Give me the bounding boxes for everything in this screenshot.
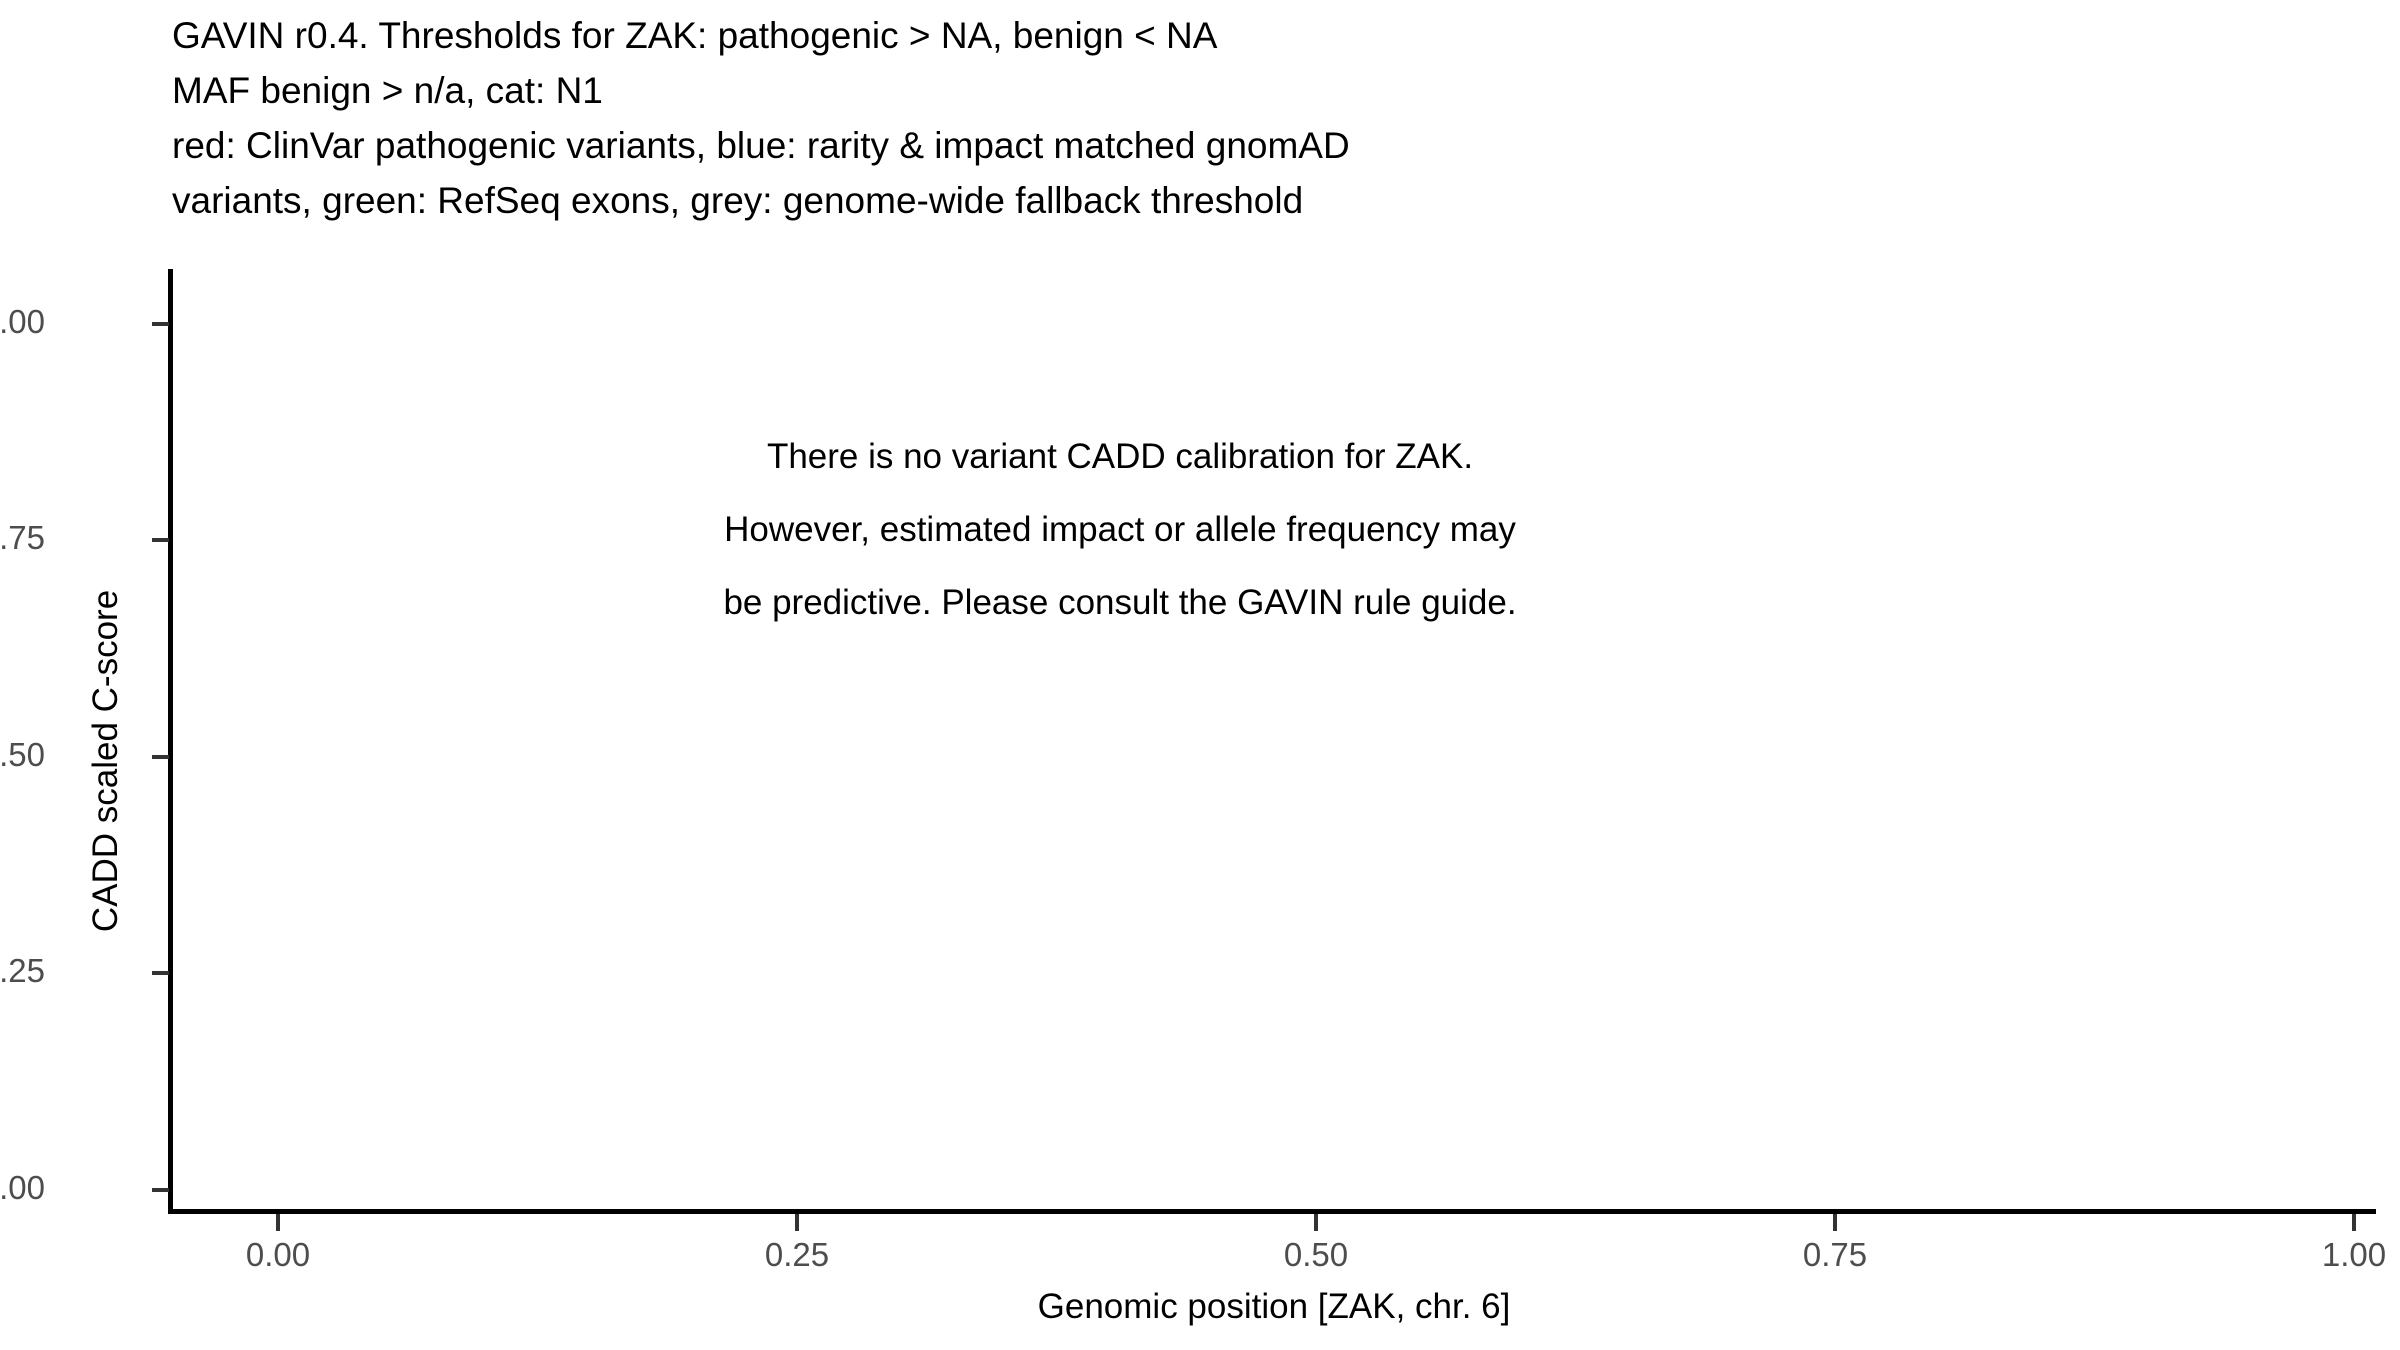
panel-annotation-line-2: However, estimated impact or allele freq… xyxy=(525,493,1715,566)
chart-title-line-1: GAVIN r0.4. Thresholds for ZAK: pathogen… xyxy=(172,8,2272,63)
y-tick-mark-3 xyxy=(152,538,169,542)
y-tick-label-3: 0.75 xyxy=(0,519,45,557)
x-axis-line xyxy=(168,1209,2376,1214)
x-tick-mark-0 xyxy=(276,1214,280,1231)
chart-title-line-2: MAF benign > n/a, cat: N1 xyxy=(172,63,2272,118)
chart-title-line-4: variants, green: RefSeq exons, grey: gen… xyxy=(172,173,2272,228)
chart-title: GAVIN r0.4. Thresholds for ZAK: pathogen… xyxy=(172,8,2272,228)
panel-annotation-line-3: be predictive. Please consult the GAVIN … xyxy=(525,566,1715,639)
y-tick-mark-0 xyxy=(152,1188,169,1192)
x-tick-mark-2 xyxy=(1314,1214,1318,1231)
y-tick-label-2: 0.50 xyxy=(0,736,45,774)
x-tick-label-2: 0.50 xyxy=(1216,1236,1416,1274)
y-axis-line xyxy=(168,269,173,1214)
x-tick-label-4: 1.00 xyxy=(2254,1236,2400,1274)
y-tick-label-0: 0.00 xyxy=(0,1169,45,1207)
chart-title-line-3: red: ClinVar pathogenic variants, blue: … xyxy=(172,118,2272,173)
x-tick-label-1: 0.25 xyxy=(697,1236,897,1274)
panel-annotation-line-1: There is no variant CADD calibration for… xyxy=(525,420,1715,493)
y-tick-mark-4 xyxy=(152,322,169,326)
plot-panel xyxy=(172,269,2376,1213)
y-axis-title: CADD scaled C-score xyxy=(86,411,126,1111)
y-tick-label-1: 0.25 xyxy=(0,952,45,990)
y-tick-mark-1 xyxy=(152,971,169,975)
y-tick-label-4: 1.00 xyxy=(0,303,45,341)
panel-annotation: There is no variant CADD calibration for… xyxy=(525,420,1715,639)
x-axis-title: Genomic position [ZAK, chr. 6] xyxy=(172,1287,2376,1327)
y-tick-mark-2 xyxy=(152,755,169,759)
chart-figure: GAVIN r0.4. Thresholds for ZAK: pathogen… xyxy=(0,0,2400,1350)
x-tick-label-0: 0.00 xyxy=(178,1236,378,1274)
x-tick-mark-1 xyxy=(795,1214,799,1231)
x-tick-mark-4 xyxy=(2352,1214,2356,1231)
x-tick-label-3: 0.75 xyxy=(1735,1236,1935,1274)
x-tick-mark-3 xyxy=(1833,1214,1837,1231)
